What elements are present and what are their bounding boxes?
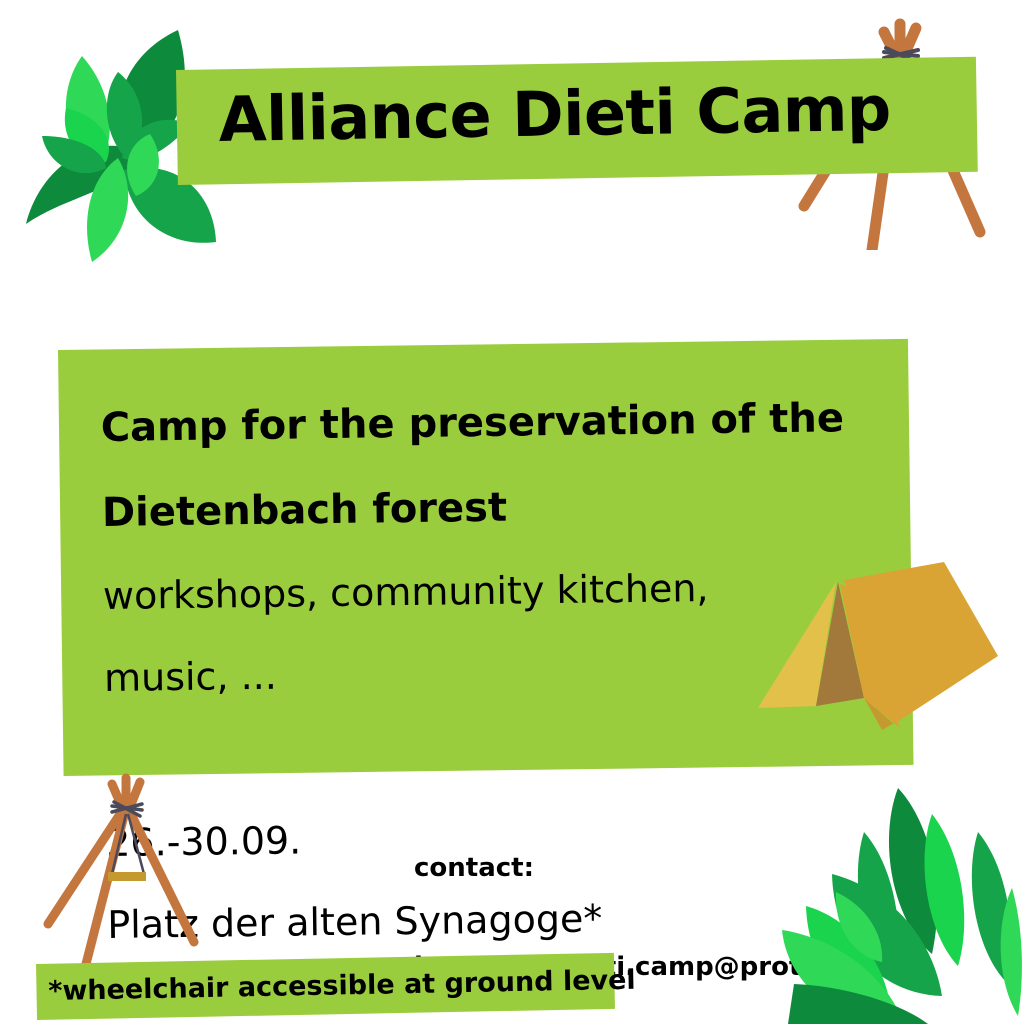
activities-line-2: music, ... (104, 645, 895, 700)
headline-line-1: Camp for the preservation of the (100, 395, 891, 452)
headline-line-2: Dietenbach forest (102, 479, 893, 536)
activities-line-1: workshops, community kitchen, (103, 564, 894, 619)
page-title: Alliance Dieti Camp (218, 72, 891, 156)
text-spacer (105, 727, 896, 783)
poster-canvas: Alliance Dieti Camp Camp for the preserv… (0, 0, 1024, 1024)
contact-label: contact: (414, 852, 892, 885)
